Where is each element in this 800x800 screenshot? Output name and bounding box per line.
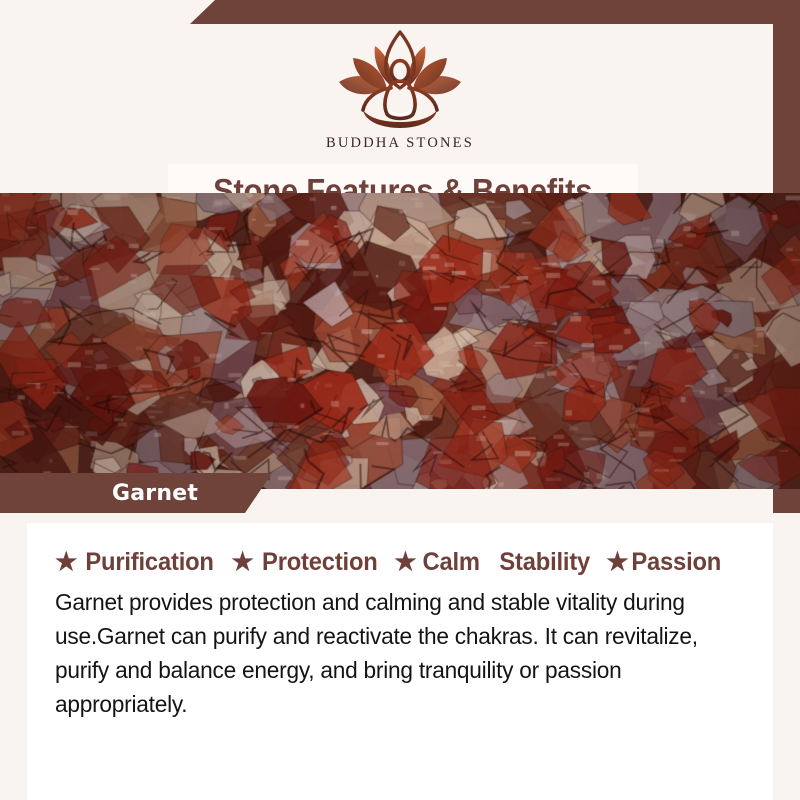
benefit-item: ★Passion xyxy=(606,548,724,577)
lotus-meditation-icon xyxy=(325,30,475,134)
benefit-label: Calm xyxy=(423,548,480,577)
content-panel: ★Purification★Protection★CalmStability★P… xyxy=(27,523,773,800)
frame-top-bar xyxy=(0,0,800,24)
benefit-item: ★Protection xyxy=(231,548,380,577)
benefit-label: Purification xyxy=(86,548,214,577)
poster-card: BUDDHA STONES Stone Features & Benefits … xyxy=(27,24,773,776)
stone-photo xyxy=(0,193,800,489)
poster-root: BUDDHA STONES Stone Features & Benefits … xyxy=(0,0,800,800)
stone-description: Garnet provides protection and calming a… xyxy=(55,585,744,721)
star-icon: ★ xyxy=(55,550,77,575)
benefit-label: Passion xyxy=(632,548,722,577)
benefit-label: Stability xyxy=(499,548,590,577)
stone-name-badge: Garnet xyxy=(0,473,272,513)
stone-name: Garnet xyxy=(112,481,198,506)
star-icon: ★ xyxy=(231,550,253,575)
benefit-item: Stability xyxy=(497,548,592,577)
benefit-item: ★Purification xyxy=(55,548,217,577)
brand-logo: BUDDHA STONES xyxy=(310,30,490,152)
benefit-item: ★Calm xyxy=(394,548,482,577)
brand-name: BUDDHA STONES xyxy=(310,135,490,152)
star-icon: ★ xyxy=(606,550,628,575)
star-icon: ★ xyxy=(394,550,416,575)
content-section: ★Purification★Protection★CalmStability★P… xyxy=(0,513,800,800)
benefit-label: Protection xyxy=(262,548,378,577)
benefits-list: ★Purification★Protection★CalmStability★P… xyxy=(55,548,755,577)
garnet-crystal-cluster-photo xyxy=(0,193,800,489)
